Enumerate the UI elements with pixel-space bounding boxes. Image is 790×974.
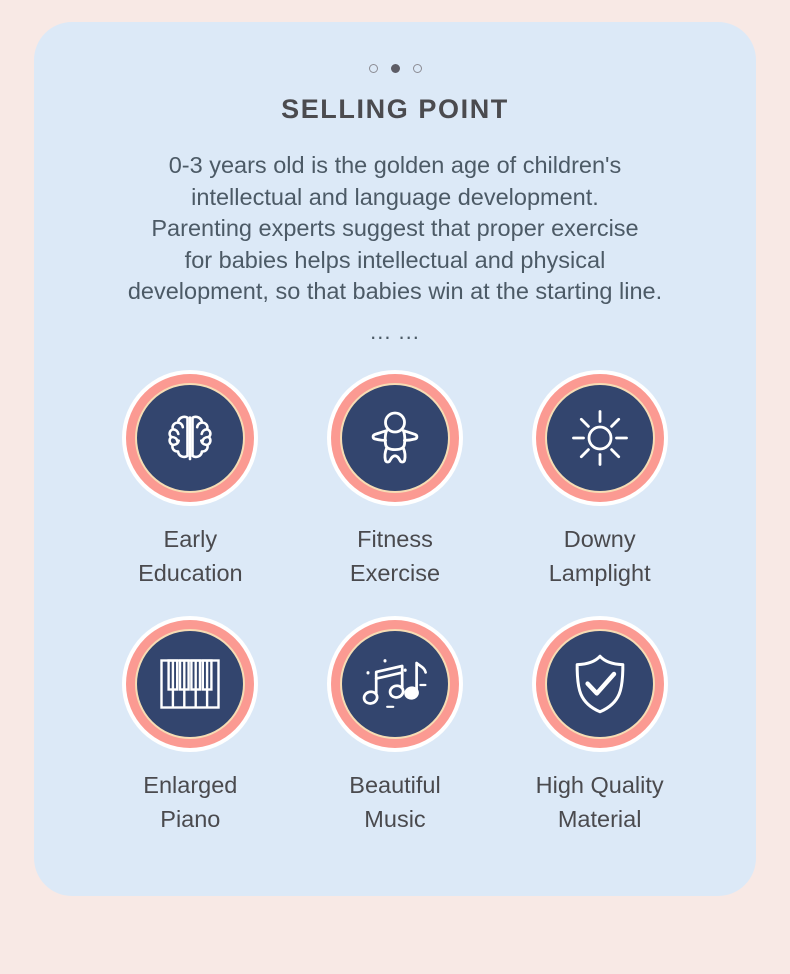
shield-check-icon [571, 653, 629, 715]
music-notes-icon [362, 654, 428, 714]
page-title: SELLING POINT [34, 94, 756, 125]
feature-badge [122, 370, 258, 506]
feature-badge [532, 616, 668, 752]
pager-dot-3[interactable] [413, 64, 422, 73]
feature-item-beautiful-music[interactable]: Beautiful Music [293, 616, 498, 836]
badge-core [137, 385, 243, 491]
ellipsis-text: ... ... [34, 319, 756, 345]
badge-core [342, 631, 448, 737]
sun-icon [568, 406, 632, 470]
product-selling-point-poster: SELLING POINT 0-3 years old is the golde… [0, 0, 790, 974]
pager-dot-2-active[interactable] [391, 64, 400, 73]
feature-badge [122, 616, 258, 752]
feature-item-high-quality-material[interactable]: High Quality Material [497, 616, 702, 836]
badge-core [547, 631, 653, 737]
feature-item-enlarged-piano[interactable]: Enlarged Piano [88, 616, 293, 836]
brain-icon [160, 408, 220, 468]
feature-grid: Early Education [88, 370, 702, 836]
piano-keys-icon [159, 658, 221, 710]
feature-item-fitness-exercise[interactable]: Fitness Exercise [293, 370, 498, 590]
selling-point-description: 0-3 years old is the golden age of child… [34, 150, 756, 308]
badge-core [137, 631, 243, 737]
feature-badge [532, 370, 668, 506]
pager-dot-1[interactable] [369, 64, 378, 73]
feature-label: Beautiful Music [349, 768, 440, 836]
badge-core [342, 385, 448, 491]
feature-item-early-education[interactable]: Early Education [88, 370, 293, 590]
feature-label: Enlarged Piano [143, 768, 237, 836]
feature-item-downy-lamplight[interactable]: Downy Lamplight [497, 370, 702, 590]
feature-label: Early Education [138, 522, 243, 590]
feature-label: High Quality Material [536, 768, 664, 836]
feature-label: Fitness Exercise [350, 522, 440, 590]
feature-badge [327, 616, 463, 752]
feature-label: Downy Lamplight [549, 522, 651, 590]
baby-figure-icon [364, 407, 426, 469]
carousel-pager[interactable] [34, 64, 756, 73]
feature-badge [327, 370, 463, 506]
selling-point-card: SELLING POINT 0-3 years old is the golde… [34, 22, 756, 896]
badge-core [547, 385, 653, 491]
